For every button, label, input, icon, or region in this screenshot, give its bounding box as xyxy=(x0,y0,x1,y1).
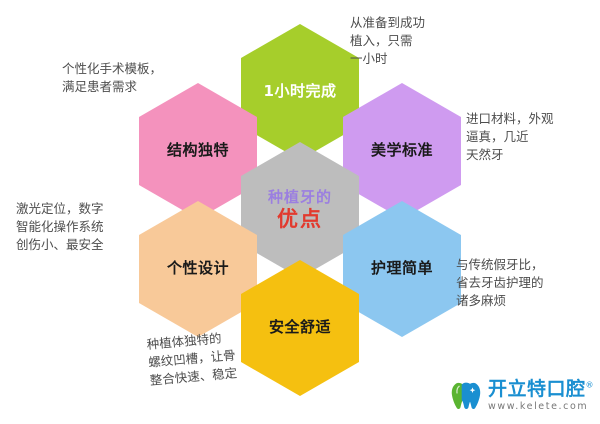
caption-right-upper: 进口材料，外观 逼真，几近 天然牙 xyxy=(466,110,554,164)
hexagon-center[interactable]: 种植牙的 优点 xyxy=(241,142,359,278)
hexagon-lower-right-label: 护理简单 xyxy=(371,260,433,277)
caption-top-left: 个性化手术模板， 满足患者需求 xyxy=(62,60,162,96)
hexagon-lower-left-label: 个性设计 xyxy=(167,260,229,277)
caption-top-right: 从准备到成功 植入，只需 一小时 xyxy=(350,14,425,68)
logo-brand-name: 开立特口腔® xyxy=(488,380,594,399)
center-text-stack: 种植牙的 优点 xyxy=(268,190,332,231)
hexagon-upper-right[interactable]: 美学标准 xyxy=(343,83,461,219)
infographic-canvas: 1小时完成 结构独特 美学标准 种植牙的 优点 个性设计 护理简单 安全舒适 个… xyxy=(0,0,600,424)
logo-text-block: 开立特口腔® www.kelete.com xyxy=(488,380,594,412)
hexagon-upper-left[interactable]: 结构独特 xyxy=(139,83,257,219)
registered-trademark-icon: ® xyxy=(586,381,595,390)
hexagon-upper-right-label: 美学标准 xyxy=(371,142,433,159)
hexagon-lower-right[interactable]: 护理简单 xyxy=(343,201,461,337)
brand-logo[interactable]: 开立特口腔® www.kelete.com xyxy=(448,374,594,418)
center-title-line1: 种植牙的 xyxy=(268,190,332,206)
tooth-icon xyxy=(448,378,484,414)
caption-bottom: 种植体独特的 螺纹凹槽，让骨 整合快速、稳定 xyxy=(146,328,238,390)
hexagon-bottom[interactable]: 安全舒适 xyxy=(241,260,359,396)
hexagon-upper-left-label: 结构独特 xyxy=(167,142,229,159)
hexagon-top-label: 1小时完成 xyxy=(264,83,337,100)
hexagon-bottom-label: 安全舒适 xyxy=(269,319,331,336)
caption-left: 激光定位，数字 智能化操作系统 创伤小、最安全 xyxy=(16,200,104,254)
hexagon-top[interactable]: 1小时完成 xyxy=(241,24,359,160)
logo-brand-name-text: 开立特口腔 xyxy=(488,378,586,400)
center-title-line2: 优点 xyxy=(277,208,323,230)
logo-website-url: www.kelete.com xyxy=(488,402,594,412)
caption-right-lower: 与传统假牙比， 省去牙齿护理的 诸多麻烦 xyxy=(456,256,544,310)
hexagon-lower-left[interactable]: 个性设计 xyxy=(139,201,257,337)
